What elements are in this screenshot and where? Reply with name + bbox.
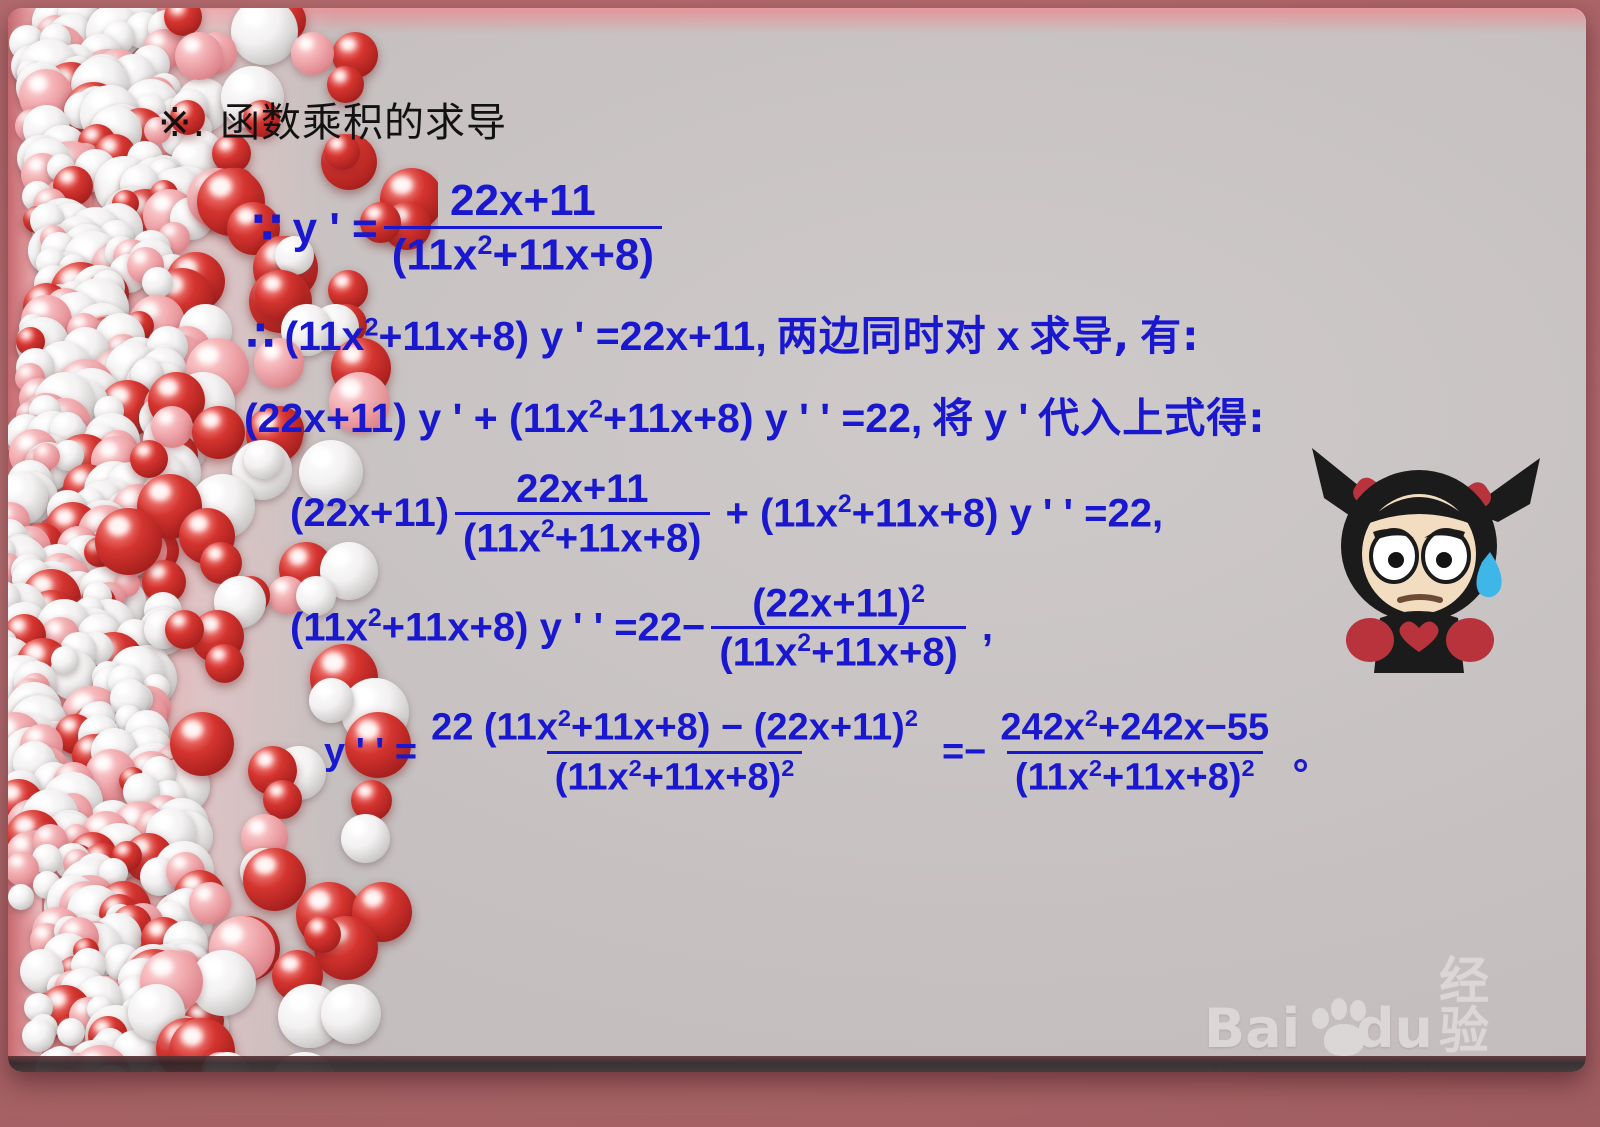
slide-stage: ※. 函数乘积的求导 ∵ y ' = 22x+11 (11x2+11x+8) ∴… bbox=[0, 0, 1600, 1127]
presentation-slide: ※. 函数乘积的求导 ∵ y ' = 22x+11 (11x2+11x+8) ∴… bbox=[8, 8, 1586, 1072]
line6-fraction-2: 242x2+242x−55 (11x2+11x+8)2 bbox=[992, 706, 1277, 798]
equation-line-6: y ' ' = 22 (11x2+11x+8) − (22x+11)2 (11x… bbox=[324, 706, 1332, 798]
line1-numerator: 22x+11 bbox=[442, 178, 604, 226]
line6-period: 。 bbox=[1293, 725, 1332, 780]
decorative-sphere bbox=[51, 646, 79, 674]
line4-numerator: 22x+11 bbox=[508, 468, 656, 512]
decorative-sphere bbox=[22, 1019, 55, 1052]
because-symbol: ∵ bbox=[252, 203, 283, 254]
watermark-logo: Bai du 经验 bbox=[1204, 956, 1504, 1056]
decorative-sphere bbox=[170, 712, 234, 776]
line5-lhs: (11x2+11x+8) y ' ' =22− bbox=[290, 605, 705, 650]
decorative-sphere bbox=[57, 1018, 85, 1046]
line1-denominator: (11x2+11x+8) bbox=[384, 226, 662, 279]
decorative-sphere bbox=[130, 440, 168, 478]
decorative-sphere bbox=[142, 267, 173, 298]
decorative-sphere bbox=[189, 882, 231, 924]
watermark-brand-latin: Bai bbox=[1204, 1002, 1300, 1056]
watermark-brand-latin2: du bbox=[1356, 1002, 1433, 1056]
line6-f1-numerator: 22 (11x2+11x+8) − (22x+11)2 bbox=[423, 706, 926, 751]
decorative-sphere bbox=[263, 780, 302, 819]
line6-lhs: y ' ' = bbox=[324, 731, 417, 774]
slide-bottom-shadow bbox=[8, 1056, 1586, 1072]
decorative-sphere bbox=[321, 984, 381, 1044]
line3-cjk-1: 将 bbox=[932, 394, 974, 442]
line6-equals: =− bbox=[942, 731, 986, 774]
decorative-sphere bbox=[205, 644, 244, 683]
line5-fraction: (22x+11)2 (11x2+11x+8) bbox=[711, 582, 965, 674]
decorative-sphere bbox=[244, 440, 283, 479]
decorative-sphere bbox=[304, 916, 341, 953]
decorative-sphere bbox=[243, 848, 306, 911]
line2-cjk-1: 两边同时对 bbox=[777, 312, 987, 360]
paw-icon bbox=[1306, 996, 1350, 1056]
decorative-sphere bbox=[8, 884, 34, 910]
equation-line-4: (22x+11) 22x+11 (11x2+11x+8) + (11x2+11x… bbox=[290, 468, 1163, 559]
baidu-experience-watermark: Bai du 经验 jingyan.baidu.com bbox=[1204, 956, 1504, 1072]
equation-line-2: ∴(11x2+11x+8) y ' =22x+11,两边同时对x求导,有: bbox=[246, 302, 1200, 362]
decorative-sphere bbox=[175, 32, 223, 80]
decorative-sphere bbox=[95, 508, 162, 575]
watermark-brand-cjk: 经验 bbox=[1439, 956, 1504, 1056]
line6-f2-numerator: 242x2+242x−55 bbox=[992, 706, 1277, 751]
line2-cjk-2: 求导, bbox=[1030, 312, 1131, 360]
line4-denominator: (11x2+11x+8) bbox=[455, 512, 709, 559]
line6-f1-denominator: (11x2+11x+8)2 bbox=[547, 751, 803, 799]
line4-lhs: (22x+11) bbox=[290, 491, 449, 536]
decorative-sphere bbox=[165, 610, 204, 649]
equation-line-1: ∵ y ' = 22x+11 (11x2+11x+8) bbox=[252, 178, 668, 279]
equation-line-3: (22x+11) y ' + (11x2+11x+8) y ' ' =22,将y… bbox=[244, 384, 1266, 444]
line4-rhs: + (11x2+11x+8) y ' ' =22, bbox=[726, 491, 1164, 536]
line1-fraction: 22x+11 (11x2+11x+8) bbox=[384, 178, 662, 279]
line5-tail: , bbox=[982, 605, 993, 650]
line5-denominator: (11x2+11x+8) bbox=[711, 626, 965, 673]
line4-fraction: 22x+11 (11x2+11x+8) bbox=[455, 468, 709, 559]
line2-cjk-3: 有: bbox=[1140, 312, 1199, 360]
line6-f2-denominator: (11x2+11x+8)2 bbox=[1007, 751, 1263, 799]
decorative-sphere bbox=[291, 32, 334, 75]
line3-cjk-2: 代入上式得: bbox=[1038, 394, 1265, 442]
therefore-symbol: ∴ bbox=[246, 313, 275, 359]
line6-fraction-1: 22 (11x2+11x+8) − (22x+11)2 (11x2+11x+8)… bbox=[423, 706, 926, 798]
page-title: ※. 函数乘积的求导 bbox=[158, 90, 507, 148]
line1-lhs: y ' = bbox=[293, 204, 378, 254]
decorative-sphere bbox=[341, 814, 390, 863]
cartoon-character-icon bbox=[1294, 428, 1544, 673]
line5-numerator: (22x+11)2 bbox=[744, 582, 933, 626]
equation-line-5: (11x2+11x+8) y ' ' =22− (22x+11)2 (11x2+… bbox=[290, 582, 993, 674]
